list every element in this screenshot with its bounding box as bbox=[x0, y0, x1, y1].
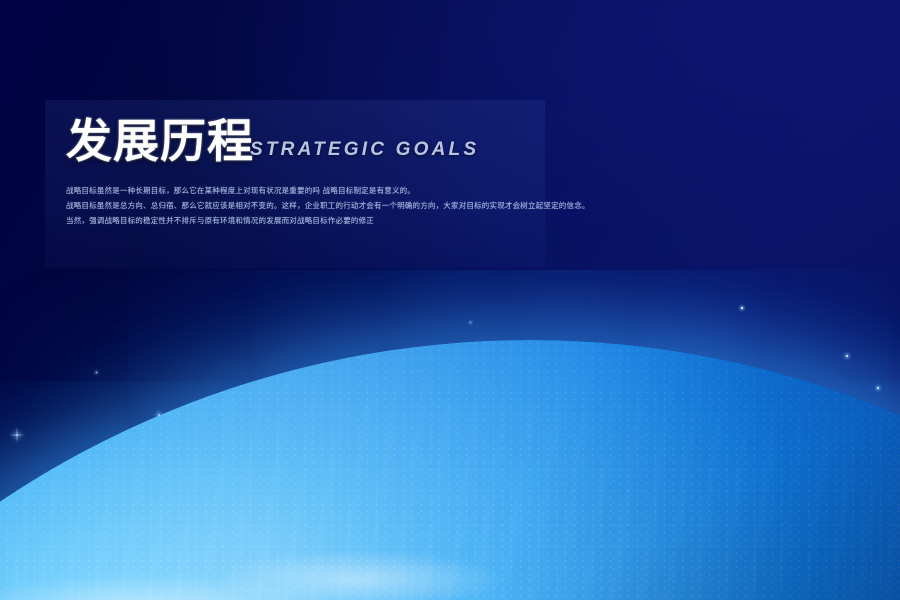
earth-region bbox=[0, 270, 900, 600]
body-line: 当然，强调战略目标的稳定性并不排斥与原有环境和情况的发展而对战略目标作必要的修正 bbox=[66, 216, 826, 226]
banner-stage: 发展历程 STRATEGIC GOALS 战略目标虽然是一种长期目标，那么它在某… bbox=[0, 0, 900, 600]
body-copy: 战略目标虽然是一种长期目标，那么它在某种程度上对现有状况是重要的吗 战略目标制定… bbox=[66, 186, 826, 231]
earth-atmosphere-rim bbox=[0, 340, 900, 600]
body-line: 战略目标虽然是一种长期目标，那么它在某种程度上对现有状况是重要的吗 战略目标制定… bbox=[66, 186, 826, 196]
page-title: 发展历程 bbox=[66, 118, 254, 164]
headline-group: 发展历程 STRATEGIC GOALS bbox=[66, 118, 479, 164]
earth-globe bbox=[0, 340, 900, 600]
page-subtitle: STRATEGIC GOALS bbox=[250, 139, 479, 164]
body-line: 战略目标虽然是总方向、总归宿、那么它就应该是相对不变的。这样，企业职工的行动才会… bbox=[66, 201, 826, 211]
